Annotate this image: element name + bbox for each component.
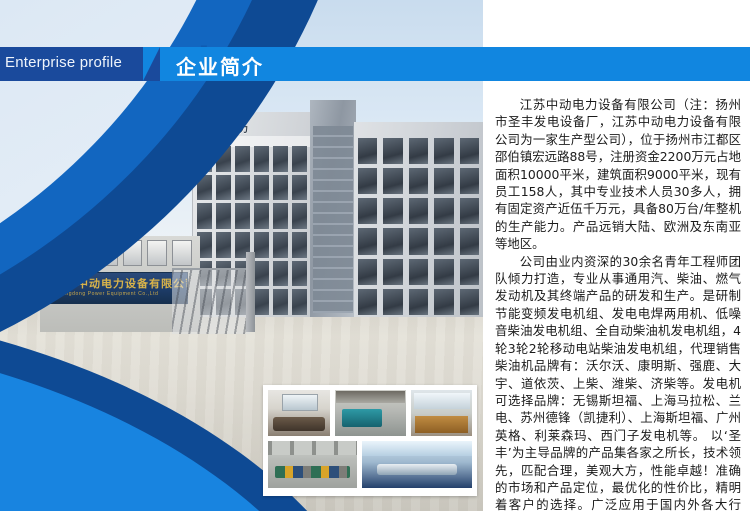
factory-gate: [172, 268, 250, 334]
office-interior-photo: [410, 389, 473, 437]
profile-text: 江苏中动电力设备有限公司（注：扬州市圣丰发电设备厂，江苏中动电力设备有限公司为一…: [495, 96, 741, 511]
wall-sign-english: Zhongdong Power Equipment Co.,Ltd: [55, 291, 158, 297]
generator-workshop-photo: [334, 389, 408, 437]
gallery-row-bottom: [267, 440, 473, 488]
photo-gallery: [263, 385, 477, 496]
building-right-windows: [358, 138, 479, 315]
gate-post: [246, 252, 255, 332]
warehouse-generators-photo: [267, 440, 358, 488]
office-building-right: [354, 122, 483, 317]
gallery-row-top: [267, 389, 473, 437]
meeting-room-photo: [267, 389, 331, 437]
company-profile-banner: 中动电力: [0, 0, 750, 511]
profile-paragraph-2: 公司由业内资深的30余名青年工程师团队倾力打造，专业从事通用汽、柴油、燃气发动机…: [495, 253, 741, 511]
profile-paragraph-1: 江苏中动电力设备有限公司（注：扬州市圣丰发电设备厂，江苏中动电力设备有限公司为一…: [495, 96, 741, 253]
glass-stair-tower: [310, 100, 356, 317]
banner-chinese-label: 企业简介: [176, 51, 264, 80]
conference-room-photo: [361, 440, 473, 488]
section-banner: Enterprise profile 企业简介: [0, 47, 750, 81]
banner-english-label: Enterprise profile: [5, 54, 122, 71]
